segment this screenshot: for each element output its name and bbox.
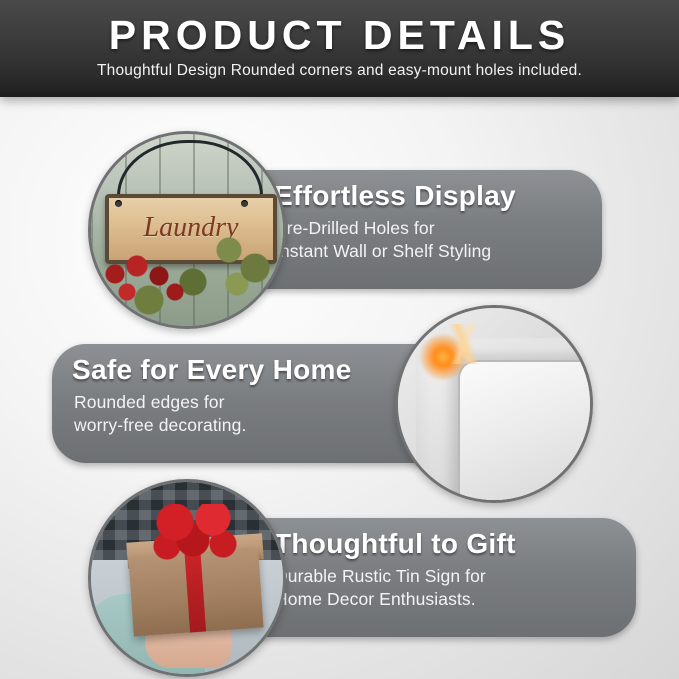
red-flowers-decoration (97, 252, 217, 318)
green-leaves-decoration (211, 230, 281, 300)
feature-3-description: Durable Rustic Tin Sign for Home Decor E… (275, 565, 486, 611)
metal-panel-front (458, 360, 593, 503)
rounded-corner-illustration (398, 308, 590, 500)
feature-1-description: Pre-Drilled Holes for Instant Wall or Sh… (275, 217, 491, 263)
feature-1-heading: Effortless Display (274, 180, 516, 212)
feature-2-heading: Safe for Every Home (72, 354, 352, 386)
feature-3-heading: Thoughtful to Gift (274, 528, 516, 560)
feature-3-line-2: Home Decor Enthusiasts. (275, 589, 476, 609)
feature-2-line-1: Rounded edges for (74, 392, 225, 412)
product-details-poster: PRODUCT DETAILS Thoughtful Design Rounde… (0, 0, 679, 679)
page-subtitle: Thoughtful Design Rounded corners and ea… (0, 62, 679, 80)
feature-2-description: Rounded edges for worry-free decorating. (74, 391, 246, 437)
poster-header: PRODUCT DETAILS Thoughtful Design Rounde… (0, 0, 679, 97)
page-title: PRODUCT DETAILS (0, 12, 679, 58)
feature-1-image: Laundry (88, 131, 286, 329)
red-bow-icon (153, 504, 239, 560)
mount-hole-right-icon (241, 200, 248, 207)
mount-hole-left-icon (115, 200, 122, 207)
feature-3-line-1: Durable Rustic Tin Sign for (275, 566, 486, 586)
sparkle-icon (428, 324, 500, 364)
feature-2-line-2: worry-free decorating. (74, 415, 246, 435)
gift-illustration (91, 482, 283, 674)
feature-2-image (395, 305, 593, 503)
feature-1-line-1: Pre-Drilled Holes for (275, 218, 435, 238)
feature-1-line-2: Instant Wall or Shelf Styling (275, 241, 491, 261)
laundry-sign-illustration: Laundry (91, 134, 283, 326)
feature-3-image (88, 479, 286, 677)
